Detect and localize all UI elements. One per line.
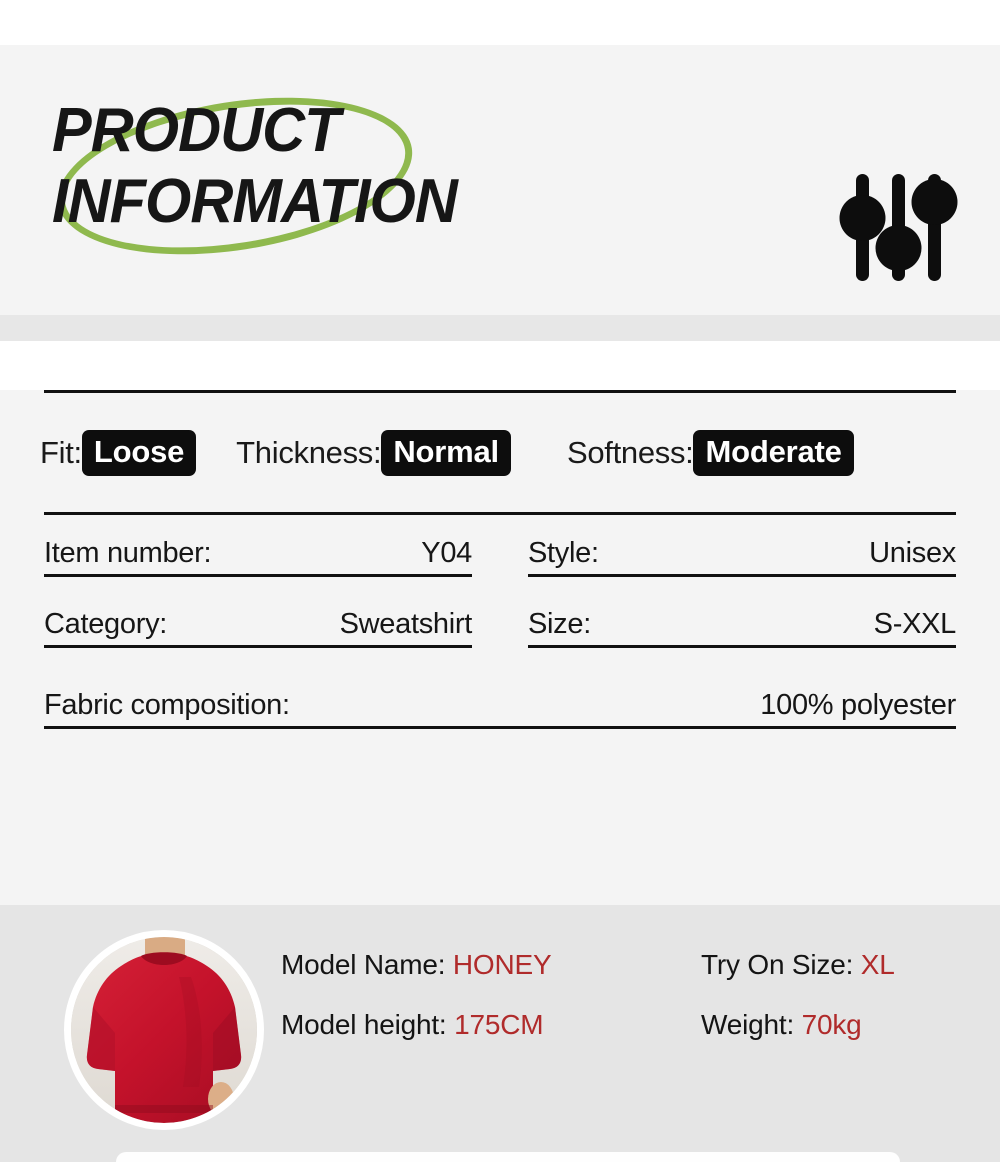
model-name-value: HONEY: [453, 949, 552, 980]
model-avatar: [64, 930, 264, 1130]
try-on-size-value: XL: [861, 949, 895, 980]
spec-key: Category:: [44, 608, 167, 641]
spec-column-left: Item number: Y04 Category: Sweatshirt: [44, 537, 472, 679]
spec-key: Item number:: [44, 537, 211, 570]
weight-label: Weight:: [701, 1009, 794, 1040]
spec-key: Fabric composition:: [44, 689, 290, 722]
attribute-fit-badge: Loose: [82, 430, 196, 476]
page-header: PRODUCT INFORMATION: [0, 45, 1000, 315]
spec-key: Size:: [528, 608, 591, 641]
spec-row-size: Size: S-XXL: [528, 608, 956, 648]
sliders-icon: [838, 170, 958, 285]
model-height-label: Model height:: [281, 1009, 447, 1040]
model-name-line: Model Name: HONEY: [281, 949, 701, 981]
attribute-row: Fit: Loose Thickness: Normal Softness: M…: [0, 393, 1000, 512]
title-line-product: PRODUCT: [52, 100, 590, 161]
spec-grid: Item number: Y04 Category: Sweatshirt St…: [0, 537, 1000, 679]
attribute-fit: Fit: Loose: [40, 430, 196, 476]
try-on-size-label: Try On Size:: [701, 949, 853, 980]
model-info-column-right: Try On Size: XL Weight: 70kg: [701, 949, 895, 1069]
spec-value: S-XXL: [874, 608, 956, 641]
attribute-thickness-label: Thickness:: [236, 435, 381, 471]
next-section-card-peek: [116, 1152, 900, 1162]
model-section: Model Name: HONEY Model height: 175CM Tr…: [0, 905, 1000, 1162]
model-info: Model Name: HONEY Model height: 175CM Tr…: [281, 949, 980, 1069]
spec-value: 100% polyester: [760, 689, 956, 722]
attribute-softness-badge: Moderate: [693, 430, 853, 476]
spec-row-category: Category: Sweatshirt: [44, 608, 472, 648]
model-photo-image: [71, 937, 257, 1123]
spec-row-fabric-composition: Fabric composition: 100% polyester: [44, 689, 956, 729]
try-on-size-line: Try On Size: XL: [701, 949, 895, 981]
model-name-label: Model Name:: [281, 949, 445, 980]
title-line-information: INFORMATION: [52, 171, 590, 232]
model-height-line: Model height: 175CM: [281, 1009, 701, 1041]
attribute-thickness: Thickness: Normal: [236, 430, 511, 476]
spec-key: Style:: [528, 537, 599, 570]
model-height-value: 175CM: [454, 1009, 543, 1040]
attribute-softness-label: Softness:: [567, 435, 694, 471]
attribute-fit-label: Fit:: [40, 435, 82, 471]
spec-row-style: Style: Unisex: [528, 537, 956, 577]
divider-rule-mid: [44, 512, 956, 515]
spec-row-item-number: Item number: Y04: [44, 537, 472, 577]
specification-section: Fit: Loose Thickness: Normal Softness: M…: [0, 390, 1000, 905]
weight-line: Weight: 70kg: [701, 1009, 895, 1041]
spec-value: Y04: [421, 537, 472, 570]
spec-value: Unisex: [869, 537, 956, 570]
model-info-column-left: Model Name: HONEY Model height: 175CM: [281, 949, 701, 1069]
attribute-softness: Softness: Moderate: [567, 430, 854, 476]
spec-value: Sweatshirt: [340, 608, 472, 641]
page-title: PRODUCT INFORMATION: [52, 90, 612, 270]
attribute-thickness-badge: Normal: [381, 430, 511, 476]
weight-value: 70kg: [802, 1009, 862, 1040]
top-white-strip: [0, 0, 1000, 45]
section-divider-band: [0, 315, 1000, 341]
spec-column-right: Style: Unisex Size: S-XXL: [528, 537, 956, 679]
